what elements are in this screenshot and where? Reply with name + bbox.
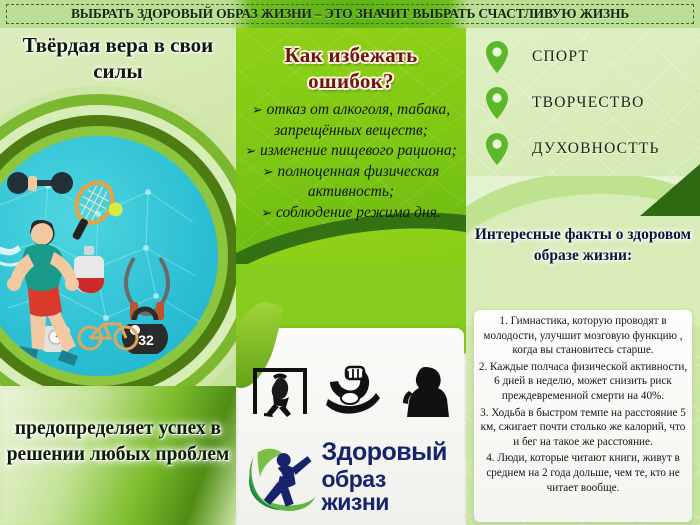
list-item: ➢ изменение пищевого рациона; <box>242 141 460 162</box>
logo-text: Здоровый образ жизни <box>321 440 458 514</box>
healthy-lifestyle-logo: Здоровый образ жизни <box>244 438 458 516</box>
banner-title: ВЫБРАТЬ ЗДОРОВЫЙ ОБРАЗ ЖИЗНИ – ЭТО ЗНАЧИ… <box>0 0 700 28</box>
bullet-glyph: ➢ <box>245 143 256 158</box>
left-panel-footer-text: предопределяет успех в решении любых про… <box>4 416 232 468</box>
logo-line-1: Здоровый <box>321 440 458 465</box>
pin-label: ДУХОВНОСТТЬ <box>532 140 660 158</box>
fact-item: 1. Гимнастика, которую проводят в молодо… <box>478 314 688 358</box>
logo-line-2: образ жизни <box>321 468 458 514</box>
pin-list: СПОРТ ТВОРЧЕСТВО ДУХОВНОСТТЬ <box>484 34 700 172</box>
facts-heading: Интересные факты о здоровом образе жизни… <box>472 224 694 266</box>
brochure-page: ВЫБРАТЬ ЗДОРОВЫЙ ОБРАЗ ЖИЗНИ – ЭТО ЗНАЧИ… <box>0 0 700 525</box>
right-panel: СПОРТ ТВОРЧЕСТВО ДУХОВНОСТТЬ Интерес <box>466 28 700 525</box>
fact-item: 2. Каждые полчаса физической активности,… <box>478 360 688 404</box>
list-item: ➢ полноценная физическая активность; <box>242 162 460 203</box>
fact-item: 4. Люди, которые читают книги, живут в с… <box>478 451 688 495</box>
pin-label: ТВОРЧЕСТВО <box>532 94 645 112</box>
swimmer-icon <box>0 235 22 265</box>
flexing-bicep-icon <box>326 365 382 417</box>
fact-item: 3. Ходьба в быстром темпе на расстояние … <box>478 406 688 450</box>
middle-panel-title: Как избежать ошибок? <box>244 42 458 94</box>
list-item-label: полноценная физическая активность; <box>277 163 439 201</box>
list-item-label: соблюдение режима дня. <box>276 204 441 221</box>
svg-text:32: 32 <box>138 332 154 348</box>
pin-row-creativity: ТВОРЧЕСТВО <box>484 80 700 126</box>
list-item: ➢ отказ от алкоголя, табака, запрещённых… <box>242 100 460 141</box>
list-item: ➢ соблюдение режима дня. <box>242 203 460 224</box>
map-pin-icon <box>484 132 510 166</box>
fitness-icon-row <box>242 360 460 422</box>
pullup-figure-icon <box>251 364 309 418</box>
dumbbell-icon <box>7 172 73 194</box>
middle-panel: Как избежать ошибок? ➢ отказ от алкоголя… <box>236 28 466 525</box>
runner-figure <box>7 220 79 366</box>
torso-silhouette-icon <box>399 365 451 417</box>
pin-row-spirituality: ДУХОВНОСТТЬ <box>484 126 700 172</box>
left-panel: 32 <box>0 28 236 525</box>
apple-leaf-runner-logo-mark <box>244 440 317 514</box>
left-panel-heading: Твёрдая вера в свои силы <box>6 32 230 84</box>
mistakes-list: ➢ отказ от алкоголя, табака, запрещённых… <box>242 100 460 223</box>
map-pin-icon <box>484 86 510 120</box>
map-pin-icon <box>484 40 510 74</box>
bullet-glyph: ➢ <box>263 164 274 179</box>
list-item-label: отказ от алкоголя, табака, запрещённых в… <box>267 101 451 139</box>
pin-label: СПОРТ <box>532 48 589 66</box>
list-item-label: изменение пищевого рациона; <box>260 142 457 159</box>
facts-list: 1. Гимнастика, которую проводят в молодо… <box>478 314 688 497</box>
pin-row-sport: СПОРТ <box>484 34 700 80</box>
bullet-glyph: ➢ <box>261 205 272 220</box>
bullet-glyph: ➢ <box>252 102 263 117</box>
top-banner: ВЫБРАТЬ ЗДОРОВЫЙ ОБРАЗ ЖИЗНИ – ЭТО ЗНАЧИ… <box>0 0 700 28</box>
